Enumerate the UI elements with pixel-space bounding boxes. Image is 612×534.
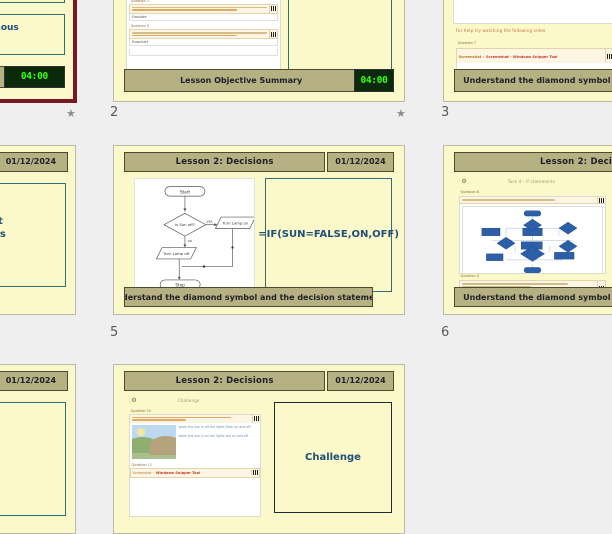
slide-8-date: 01/12/2024	[327, 371, 394, 391]
slide-4-text-panel: decide what mond shapes do?	[0, 183, 66, 287]
question-prompt: Screenshot :	[133, 471, 154, 475]
question-box	[129, 29, 279, 39]
slide-4-line-1: mond shapes	[0, 228, 6, 242]
slide-4-body: 01/12/2024 decide what mond shapes do? .…	[0, 146, 75, 314]
slide-8-worksheet: when the sun is off the lights flash on …	[129, 414, 262, 517]
slide-number-2: 2	[110, 105, 118, 120]
slide-thumbnail-2[interactable]: Question 2 Simulate Question 3	[113, 0, 405, 102]
text-line	[132, 419, 187, 421]
slide-number-6: 6	[441, 325, 449, 340]
grip-icon	[252, 415, 260, 423]
slide-thumbnail-6[interactable]: Lesson 2: Decisions ⚙ Task 4 - If statem…	[443, 145, 612, 315]
slide-8-body: Lesson 2: Decisions 01/12/2024 ⚙ Challen…	[114, 365, 404, 533]
screenshot-thumbnail	[132, 425, 176, 459]
bullet-list: when the sun is off the lights flash on …	[179, 425, 259, 459]
slide-5-flowchart-canvas: Start Is Sun off? yes Turn Lamp on no	[134, 178, 255, 294]
slide-8-title: Lesson 2: Decisions	[124, 371, 325, 391]
slide-number-3: 3	[441, 105, 449, 120]
question-box	[130, 415, 261, 423]
slide-5-body: Lesson 2: Decisions 01/12/2024 Start Is …	[114, 146, 404, 314]
hill-shape-2	[150, 436, 176, 454]
svg-text:Is Sun off?: Is Sun off?	[175, 222, 195, 227]
grip-icon	[269, 5, 277, 13]
question-box	[460, 197, 605, 204]
slide-thumbnail-5[interactable]: Lesson 2: Decisions 01/12/2024 Start Is …	[113, 145, 405, 315]
svg-text:Turn Lamp off: Turn Lamp off	[163, 251, 190, 256]
list-item: when the sun is off the lights flash on …	[179, 425, 259, 430]
question-link[interactable]: Screenshot - Windows Snipper Tool	[486, 55, 557, 59]
slide-number-5: 5	[110, 325, 118, 340]
question-text	[460, 197, 597, 203]
question-block: Question 3 Flowchart	[129, 24, 279, 46]
question-text	[130, 415, 253, 423]
slide-4-header: 01/12/2024	[0, 152, 68, 172]
slide-1-timer: 04:00	[4, 66, 65, 88]
slide-8-task-heading: Challenge	[178, 398, 200, 403]
question-link[interactable]: Windows Snipper Tool	[156, 471, 201, 475]
slide-1-line-1: monotonous	[0, 22, 19, 34]
text-line	[462, 283, 568, 285]
question-box: Screenshot : Windows Snipper Tool	[130, 468, 261, 478]
slide-5-date: 01/12/2024	[327, 152, 394, 172]
slide-7-header: 01/12/2024	[0, 371, 68, 391]
slide-6-objective-bar: Understand the diamond symbol and the	[454, 287, 612, 307]
slide-thumbnail-7[interactable]: 01/12/2024 off ts are on ASHES OR	[0, 364, 76, 534]
slide-sorter-canvas[interactable]: statement. monotonous g. ...ement. 04:00…	[0, 0, 612, 459]
slide-8-text-panel: Challenge	[274, 402, 393, 513]
answer-box-empty	[129, 49, 279, 56]
text-line	[132, 32, 268, 34]
text-line	[462, 199, 555, 201]
slide-2-objective-bar: Lesson Objective Summary	[124, 69, 358, 92]
slide-1-text-panel-a: statement.	[0, 0, 65, 3]
slide-2-text-panel: Complete the starter.	[288, 0, 392, 75]
svg-text:Start: Start	[180, 189, 191, 194]
grip-icon	[251, 470, 259, 475]
slide-3-question-text: Screenshot : Screenshot - Windows Snippe…	[457, 49, 606, 64]
slide-6-worksheet	[459, 196, 606, 274]
question-box	[129, 4, 279, 14]
slide-6-task-heading: Task 4 - If statements	[508, 179, 555, 184]
svg-text:no: no	[188, 239, 192, 243]
slide-3-objective-bar: Understand the diamond symbol and the	[454, 69, 612, 92]
slide-3-body: For help try watching the following vide…	[444, 0, 612, 101]
slide-5-header: Lesson 2: Decisions 01/12/2024	[124, 152, 394, 172]
question-label: Question 11	[130, 461, 261, 468]
slide-4-date: 01/12/2024	[0, 152, 68, 172]
answer-box: Simulate	[129, 14, 279, 21]
slide-6-question-label: Question 8	[459, 190, 479, 195]
question-block: Question 2 Simulate	[129, 0, 279, 21]
slide-6-title: Lesson 2: Decisions	[454, 152, 612, 172]
slide-7-text-panel: off ts are on ASHES OR	[0, 402, 66, 516]
slide-4-line-0: decide what	[0, 215, 3, 229]
slide-6-question-label-2: Question 9	[459, 274, 479, 279]
slide-3-note: For help try watching the following vide…	[456, 28, 546, 33]
slide-caption-6: 6	[441, 325, 449, 340]
slide-thumbnail-3[interactable]: For help try watching the following vide…	[443, 0, 612, 102]
slide-2-worksheet: Question 2 Simulate Question 3	[126, 0, 282, 77]
slide-3-question-label: Question 7	[456, 41, 476, 46]
slide-1-body: statement. monotonous g. ...ement. 04:00	[0, 0, 73, 99]
text-line	[132, 7, 268, 9]
moodle-logo-icon: ⚙	[131, 397, 136, 404]
blue-flowchart	[462, 206, 603, 274]
answer-text: Flowchart	[130, 40, 149, 44]
slide-caption-2: 2	[110, 105, 118, 120]
slide-7-body: 01/12/2024 off ts are on ASHES OR	[0, 365, 75, 533]
animation-star-icon-3: ★	[396, 108, 406, 119]
slide-5-objective-bar: Understand the diamond symbol and the de…	[124, 287, 373, 307]
slide-caption-3: 3	[441, 105, 449, 120]
slide-thumbnail-4[interactable]: 01/12/2024 decide what mond shapes do? .…	[0, 145, 76, 315]
slide-thumbnail-1[interactable]: statement. monotonous g. ...ement. 04:00	[0, 0, 76, 102]
slide-3-worksheet	[453, 0, 612, 24]
slide-caption-5: 5	[110, 325, 118, 340]
list-item: when the sun is on the lights are on and…	[179, 434, 259, 439]
slide-6-header: Lesson 2: Decisions	[454, 152, 612, 172]
svg-text:yes: yes	[207, 219, 213, 223]
blue-flowchart-svg	[463, 207, 602, 274]
flowchart-svg: Start Is Sun off? yes Turn Lamp on no	[135, 179, 254, 293]
grip-icon	[605, 49, 612, 64]
slide-1-text-panel-b: monotonous g.	[0, 14, 65, 54]
grip-icon	[597, 197, 605, 203]
slide-5-panel-text: =IF(SUN=FALSE,ON,OFF)	[258, 228, 399, 242]
moodle-logo-icon: ⚙	[461, 178, 466, 185]
svg-text:Turn Lamp on: Turn Lamp on	[222, 220, 249, 225]
hint-line	[132, 9, 238, 11]
sun-shape	[137, 428, 145, 435]
answer-box: Flowchart	[129, 39, 279, 46]
slide-8-panel-text: Challenge	[305, 451, 361, 465]
animation-star-icon-2: ★	[66, 108, 76, 119]
question-link-prefix: Screenshot :	[459, 55, 485, 59]
slide-2-body: Question 2 Simulate Question 3	[114, 0, 404, 101]
slide-5-title: Lesson 2: Decisions	[124, 152, 325, 172]
text-line	[132, 417, 232, 419]
slide-2-timer: 04:00	[354, 69, 394, 92]
slide-8-header: Lesson 2: Decisions 01/12/2024	[124, 371, 394, 391]
question-text	[130, 5, 270, 13]
answer-text: Simulate	[130, 15, 147, 19]
hint-line	[132, 35, 238, 37]
slide-5-text-panel: =IF(SUN=FALSE,ON,OFF)	[265, 178, 393, 292]
slide-7-date: 01/12/2024	[0, 371, 68, 391]
question-text: Screenshot : Windows Snipper Tool	[131, 470, 252, 476]
grip-icon	[269, 30, 277, 38]
slide-6-body: Lesson 2: Decisions ⚙ Task 4 - If statem…	[444, 146, 612, 314]
question-text	[130, 30, 270, 38]
slide-thumbnail-8[interactable]: Lesson 2: Decisions 01/12/2024 ⚙ Challen…	[113, 364, 405, 534]
